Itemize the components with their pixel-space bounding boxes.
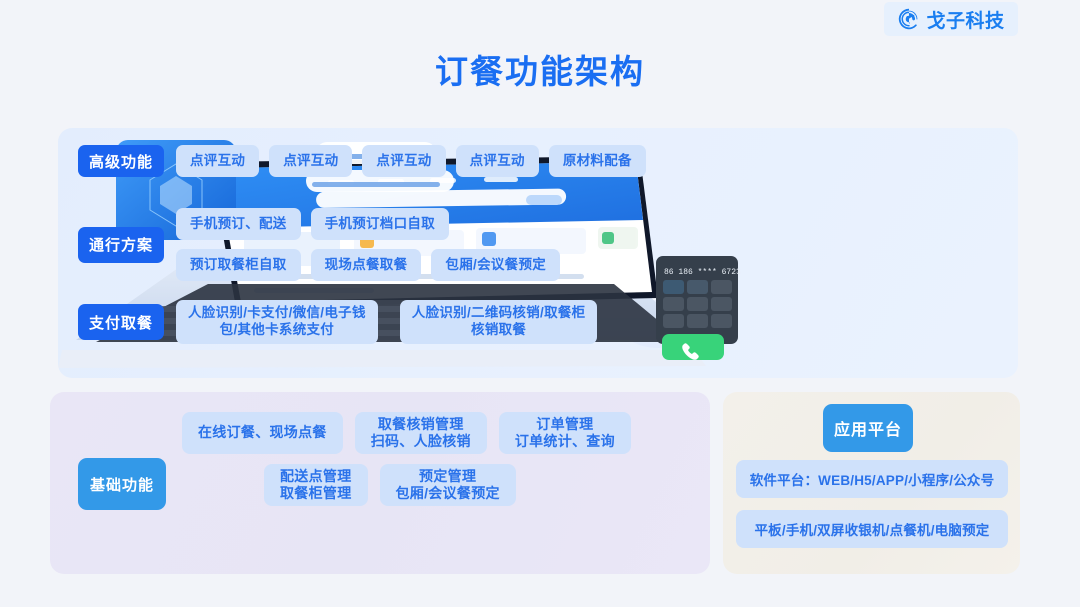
row-common-solutions: 通行方案 手机预订、配送 手机预订档口自取 预订取餐柜自取 现场点餐取餐 包厢/… [78, 208, 576, 281]
application-platform-label: 应用平台 [823, 404, 913, 452]
feature-pill[interactable]: 原材料配备 [549, 145, 646, 177]
solution-pill[interactable]: 包厢/会议餐预定 [431, 249, 560, 281]
basic-feature-pill[interactable]: 预定管理 包厢/会议餐预定 [380, 464, 516, 506]
basic-features-label: 基础功能 [78, 458, 166, 510]
application-platform-panel: 应用平台 软件平台：WEB/H5/APP/小程序/公众号 平板/手机/双屏收银机… [723, 392, 1020, 574]
svg-text:86 186 **** 6723: 86 186 **** 6723 [664, 268, 741, 277]
feature-pill[interactable]: 点评互动 [269, 145, 352, 177]
row-advanced-features: 高级功能 点评互动 点评互动 点评互动 点评互动 原材料配备 [78, 145, 646, 177]
row-payment-pickup: 支付取餐 人脸识别/卡支付/微信/电子钱 包/其他卡系统支付 人脸识别/二维码核… [78, 300, 597, 344]
basic-features-row-1: 在线订餐、现场点餐 取餐核销管理 扫码、人脸核销 订单管理 订单统计、查询 [182, 412, 692, 454]
g-swirl-logo-icon [897, 7, 921, 31]
brand-logo: 戈子科技 [884, 2, 1018, 36]
basic-feature-pill[interactable]: 取餐核销管理 扫码、人脸核销 [355, 412, 487, 454]
application-platform-items: 软件平台：WEB/H5/APP/小程序/公众号 平板/手机/双屏收银机/点餐机/… [736, 460, 1008, 560]
basic-features-items: 在线订餐、现场点餐 取餐核销管理 扫码、人脸核销 订单管理 订单统计、查询 配送… [182, 412, 692, 516]
solution-pill[interactable]: 现场点餐取餐 [311, 249, 422, 281]
row-label-common-solutions: 通行方案 [78, 227, 164, 263]
solution-pill[interactable]: 手机预订档口自取 [311, 208, 449, 240]
payment-pill[interactable]: 人脸识别/卡支付/微信/电子钱 包/其他卡系统支付 [176, 300, 378, 344]
basic-feature-pill[interactable]: 配送点管理 取餐柜管理 [264, 464, 368, 506]
platform-pill[interactable]: 软件平台：WEB/H5/APP/小程序/公众号 [736, 460, 1008, 498]
basic-features-row-2: 配送点管理 取餐柜管理 预定管理 包厢/会议餐预定 [264, 464, 692, 506]
basic-feature-pill[interactable]: 订单管理 订单统计、查询 [499, 412, 631, 454]
feature-pill[interactable]: 点评互动 [456, 145, 539, 177]
row-label-payment-pickup: 支付取餐 [78, 304, 164, 340]
row-label-advanced: 高级功能 [78, 145, 164, 177]
basic-feature-pill[interactable]: 在线订餐、现场点餐 [182, 412, 343, 454]
solution-pill[interactable]: 手机预订、配送 [176, 208, 301, 240]
row-items-payment-pickup: 人脸识别/卡支付/微信/电子钱 包/其他卡系统支付 人脸识别/二维码核销/取餐柜… [176, 300, 597, 344]
solution-pill[interactable]: 预订取餐柜自取 [176, 249, 301, 281]
brand-logo-text: 戈子科技 [926, 6, 1004, 33]
advanced-features-panel: AI获客 86 186 **** 6723 [58, 128, 1018, 378]
basic-features-panel: 基础功能 在线订餐、现场点餐 取餐核销管理 扫码、人脸核销 订单管理 订单统计、… [50, 392, 710, 574]
row-items-common-solutions: 手机预订、配送 手机预订档口自取 预订取餐柜自取 现场点餐取餐 包厢/会议餐预定 [176, 208, 576, 281]
row-items-advanced: 点评互动 点评互动 点评互动 点评互动 原材料配备 [176, 145, 646, 177]
page-title: 订餐功能架构 [0, 45, 1080, 93]
payment-pill[interactable]: 人脸识别/二维码核销/取餐柜 核销取餐 [400, 300, 598, 344]
feature-pill[interactable]: 点评互动 [362, 145, 445, 177]
platform-pill[interactable]: 平板/手机/双屏收银机/点餐机/电脑预定 [736, 510, 1008, 548]
feature-pill[interactable]: 点评互动 [176, 145, 259, 177]
